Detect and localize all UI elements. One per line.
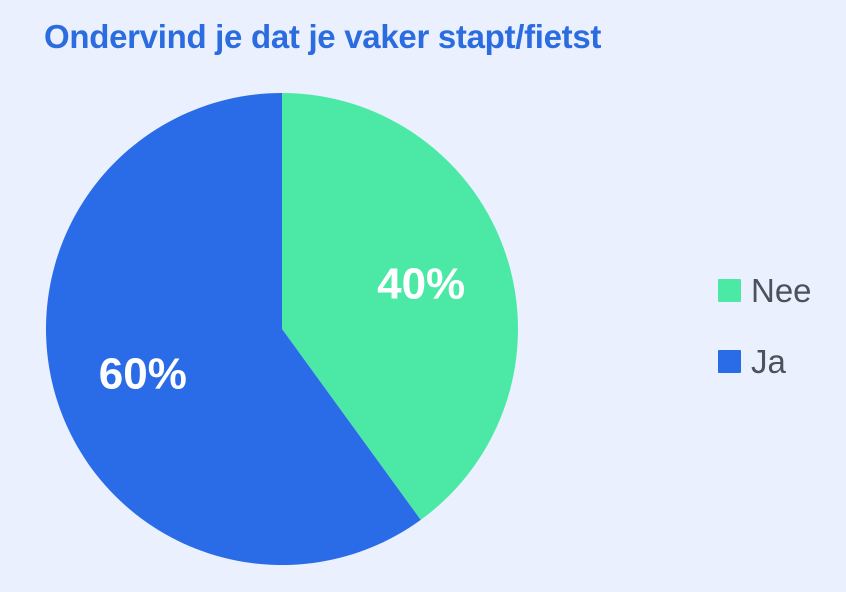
chart-legend: Nee Ja <box>718 275 838 417</box>
legend-swatch-nee <box>718 279 741 302</box>
pie-plot-area: 40% 60% <box>46 93 518 565</box>
pie-svg: 40% 60% <box>46 93 518 565</box>
pie-chart-figure: Ondervind je dat je vaker stapt/fietst 4… <box>0 0 846 592</box>
pie-slice-label-nee: 40% <box>377 259 465 308</box>
legend-item-ja[interactable]: Ja <box>718 346 838 376</box>
pie-slice-label-ja: 60% <box>99 350 187 399</box>
legend-label-ja: Ja <box>751 345 786 378</box>
chart-title: Ondervind je dat je vaker stapt/fietst <box>44 16 601 58</box>
legend-label-nee: Nee <box>751 274 812 307</box>
legend-item-nee[interactable]: Nee <box>718 275 838 305</box>
legend-swatch-ja <box>718 350 741 373</box>
